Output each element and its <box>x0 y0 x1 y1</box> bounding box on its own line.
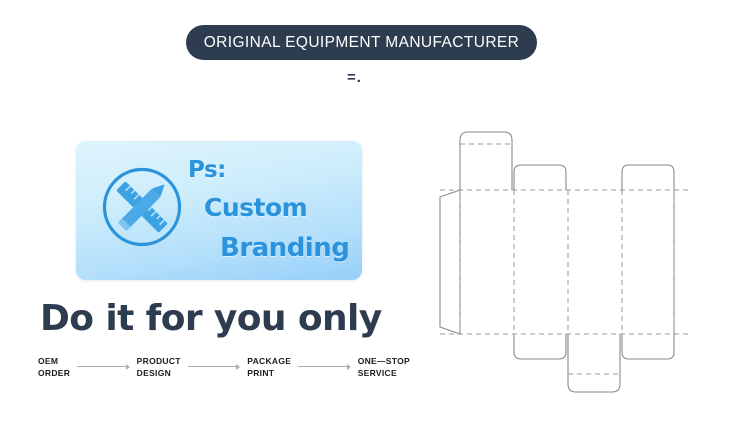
process-step-line2: DESIGN <box>137 368 181 380</box>
process-step-line1: ONE—STOP <box>358 356 410 366</box>
process-step-line2: PRINT <box>247 368 291 380</box>
custom-branding-card: Ps: Custom Branding <box>76 141 362 280</box>
left-content-column: Ps: Custom Branding Do it for you only O… <box>0 0 420 425</box>
flow-arrow-icon <box>188 361 240 372</box>
flow-arrow-icon <box>77 361 129 372</box>
ruler-pencil-icon <box>100 165 184 249</box>
process-step-oem-order: OEM ORDER <box>38 356 70 379</box>
process-step-line1: OEM <box>38 356 58 366</box>
brand-card-text: Ps: Custom Branding <box>186 157 358 269</box>
flow-arrow-icon <box>298 361 350 372</box>
brand-line-custom: Custom <box>204 195 307 220</box>
process-step-line2: ORDER <box>38 368 70 380</box>
brand-line-ps: Ps: <box>188 159 226 182</box>
process-step-line2: SERVICE <box>358 368 410 380</box>
carton-dieline-diagram <box>432 112 742 404</box>
process-step-line1: PRODUCT <box>137 356 181 366</box>
process-step-one-stop-service: ONE—STOP SERVICE <box>358 356 410 379</box>
headline: Do it for you only <box>40 298 382 339</box>
brand-line-branding: Branding <box>220 235 349 261</box>
process-flow: OEM ORDER PRODUCT DESIGN PACKAGE PRINT O… <box>38 356 410 379</box>
process-step-product-design: PRODUCT DESIGN <box>137 356 181 379</box>
process-step-line1: PACKAGE <box>247 356 291 366</box>
process-step-package-print: PACKAGE PRINT <box>247 356 291 379</box>
